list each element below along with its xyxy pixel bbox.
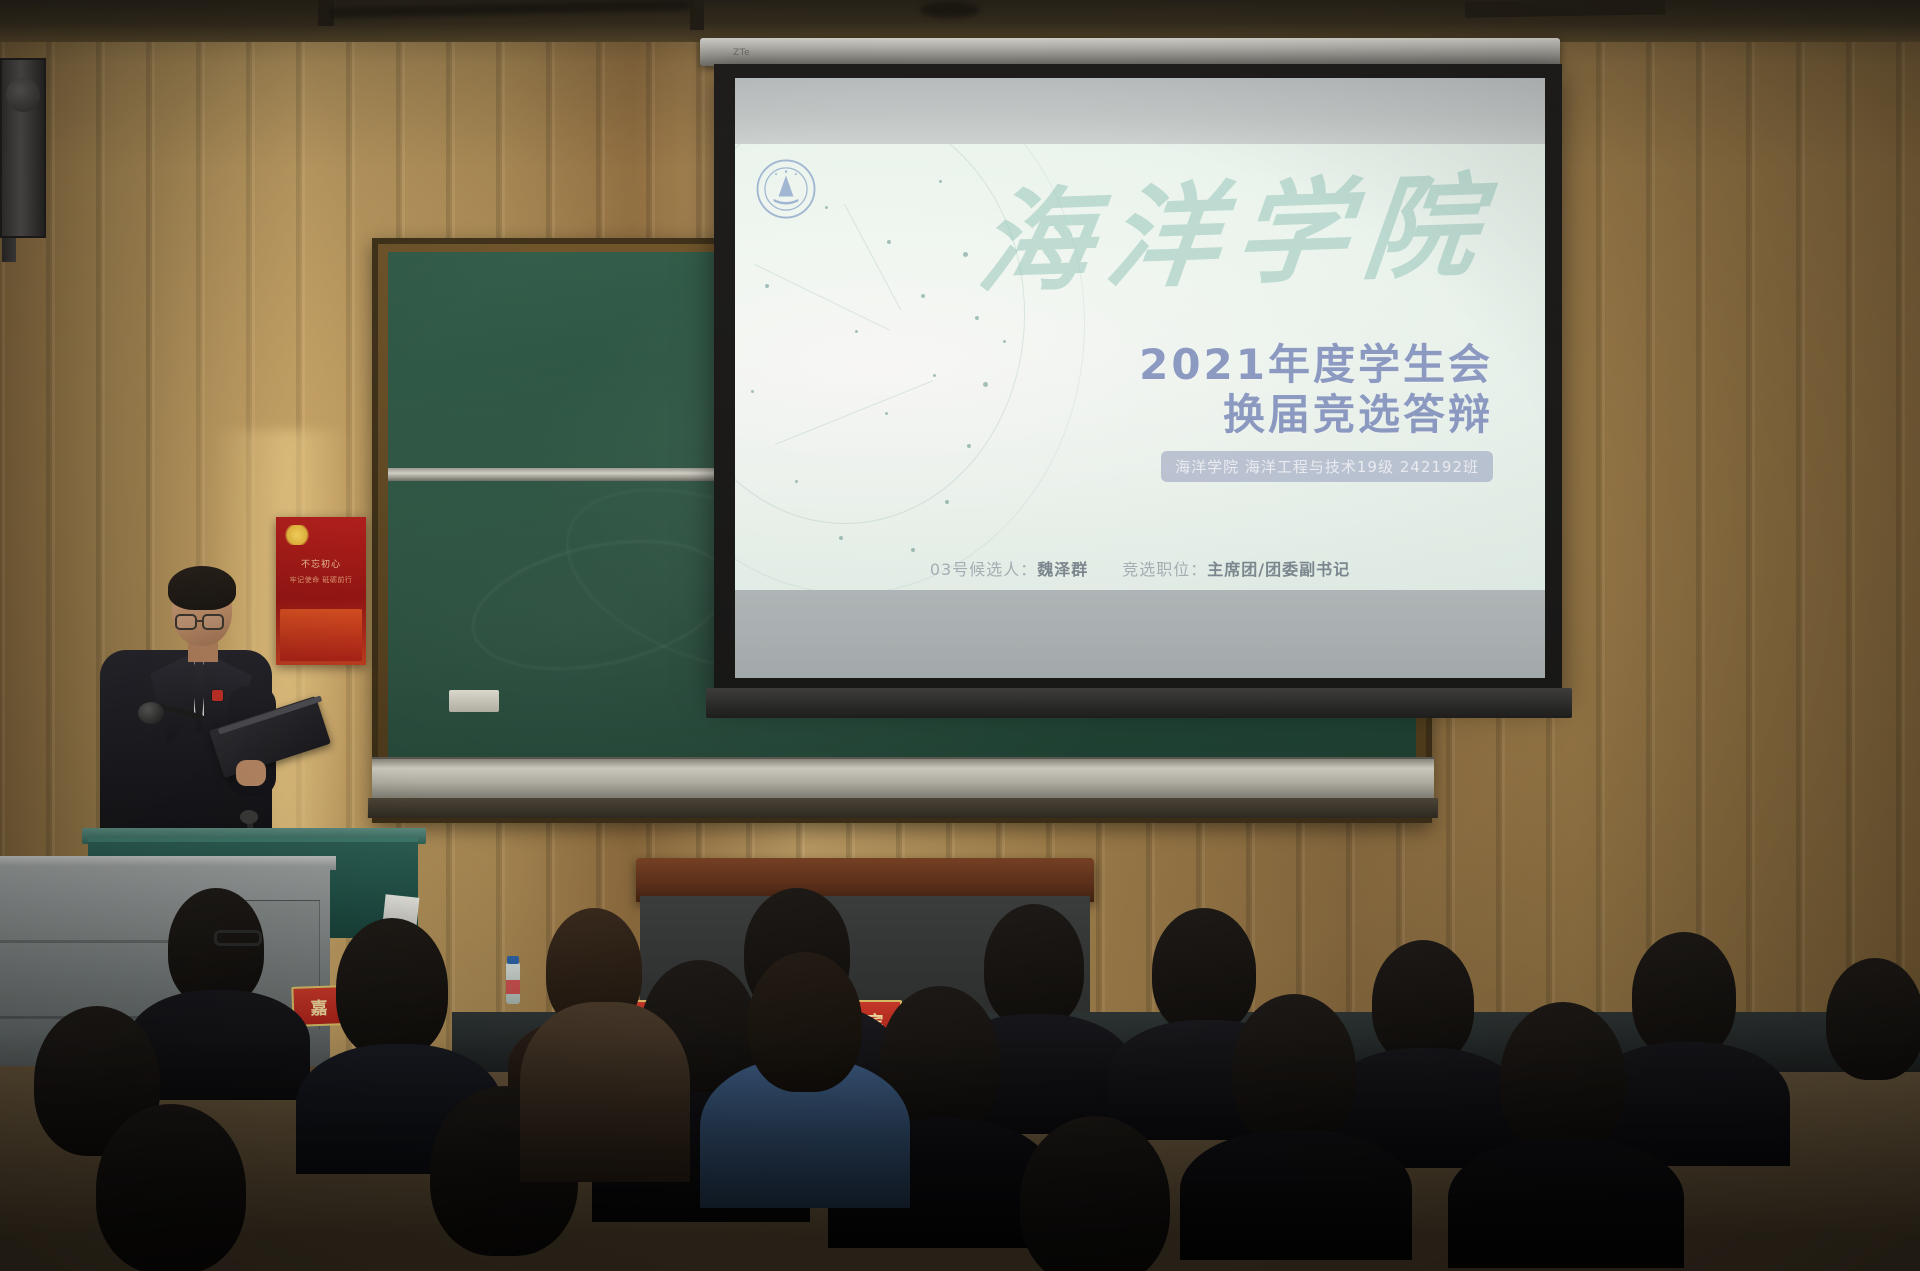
audience-head-front — [1232, 994, 1356, 1146]
party-badge-icon — [212, 690, 223, 701]
decorative-dot — [765, 284, 769, 288]
audience-head — [1372, 940, 1474, 1064]
calligraphy-watermark: 海洋学院 — [971, 151, 1529, 320]
slide-letterbox-bottom — [735, 590, 1545, 678]
glasses-lens-right — [202, 614, 224, 630]
presenter-hair — [168, 566, 236, 610]
candidate-label: 03号候选人： — [930, 560, 1037, 579]
lecture-hall-photo: ZTe — [0, 0, 1920, 1271]
decorative-dot — [887, 240, 891, 244]
speaker-cone-icon — [6, 78, 40, 112]
audience-head-front — [336, 918, 448, 1058]
decorative-dot — [1003, 340, 1006, 343]
presentation-slide: 海洋学院 2021年度学生会 换届竞选答辩 海洋学院 海洋工程与技术19级 24… — [735, 78, 1545, 678]
slide-info-pill: 海洋学院 海洋工程与技术19级 242192班 — [1161, 451, 1493, 482]
decorative-dot — [751, 390, 754, 393]
chalk-tray-lip — [368, 798, 1438, 818]
glasses-bridge — [196, 620, 204, 622]
audience-shoulders — [1180, 1130, 1412, 1260]
glasses-lens-left — [175, 614, 197, 630]
poster-subline: 牢记使命 砥砺前行 — [276, 575, 366, 585]
audience-head — [984, 904, 1084, 1028]
screen-case-label: ZTe — [733, 48, 750, 58]
handheld-microphone-head — [138, 702, 164, 724]
slide-title-line-1: 2021年度学生会 — [1139, 340, 1493, 390]
decorative-dot — [933, 374, 936, 377]
audience-head-front — [96, 1104, 246, 1271]
chalk-eraser — [449, 690, 499, 712]
poster-illustration — [280, 609, 362, 661]
position-label: 竞选职位： — [1122, 560, 1207, 579]
decorative-dot — [921, 294, 925, 298]
audience-glasses-icon — [214, 930, 262, 946]
presenter-hand — [236, 760, 266, 786]
decorative-dot — [939, 180, 942, 183]
party-emblem-icon — [284, 525, 310, 545]
audience-shoulders — [1448, 1138, 1684, 1268]
decorative-dot — [963, 252, 968, 257]
decorative-dot — [825, 206, 828, 209]
ceiling-fixture — [920, 2, 980, 18]
slide-content-area: 海洋学院 2021年度学生会 换届竞选答辩 海洋学院 海洋工程与技术19级 24… — [735, 144, 1545, 590]
decorative-dot — [855, 330, 858, 333]
water-bottle-cap — [507, 956, 519, 964]
decorative-dot — [945, 500, 949, 504]
position-value: 主席团/团委副书记 — [1207, 560, 1350, 579]
podium-microphone-head — [240, 810, 258, 824]
slide-letterbox-top — [735, 78, 1545, 144]
audience-head-front — [748, 952, 862, 1092]
slide-title-line-2: 换届竞选答辩 — [1139, 390, 1493, 440]
chalk-tray — [372, 757, 1434, 801]
decorative-dot — [967, 444, 971, 448]
decorative-dot — [983, 382, 988, 387]
candidate-name: 魏泽群 — [1037, 560, 1088, 579]
projection-screen-weight-bar — [706, 688, 1572, 718]
decorative-dot — [885, 412, 888, 415]
wall-speaker — [0, 58, 46, 238]
candidate-info-row: 03号候选人：魏泽群竞选职位：主席团/团委副书记 — [735, 556, 1545, 580]
poster-headline: 不忘初心 — [276, 557, 366, 570]
audience-long-hair — [520, 1002, 690, 1182]
ocean-college-emblem-icon — [755, 158, 817, 220]
ceiling-rail-bracket-2 — [690, 0, 704, 30]
slide-title-block: 2021年度学生会 换届竞选答辩 海洋学院 海洋工程与技术19级 242192班 — [1139, 340, 1493, 482]
decorative-dot — [839, 536, 843, 540]
water-bottle-label — [506, 980, 520, 994]
audience-head — [1152, 908, 1256, 1034]
decorative-dot — [911, 548, 915, 552]
party-propaganda-poster: 不忘初心 牢记使命 砥砺前行 — [276, 517, 366, 665]
audience-head — [1826, 958, 1920, 1080]
audience-head — [168, 888, 264, 1006]
audience-head-front — [1500, 1002, 1626, 1154]
projector-screen-case — [700, 38, 1560, 66]
audience-head — [1632, 932, 1736, 1058]
decorative-dot — [795, 480, 798, 483]
speaker-mount — [2, 238, 16, 262]
